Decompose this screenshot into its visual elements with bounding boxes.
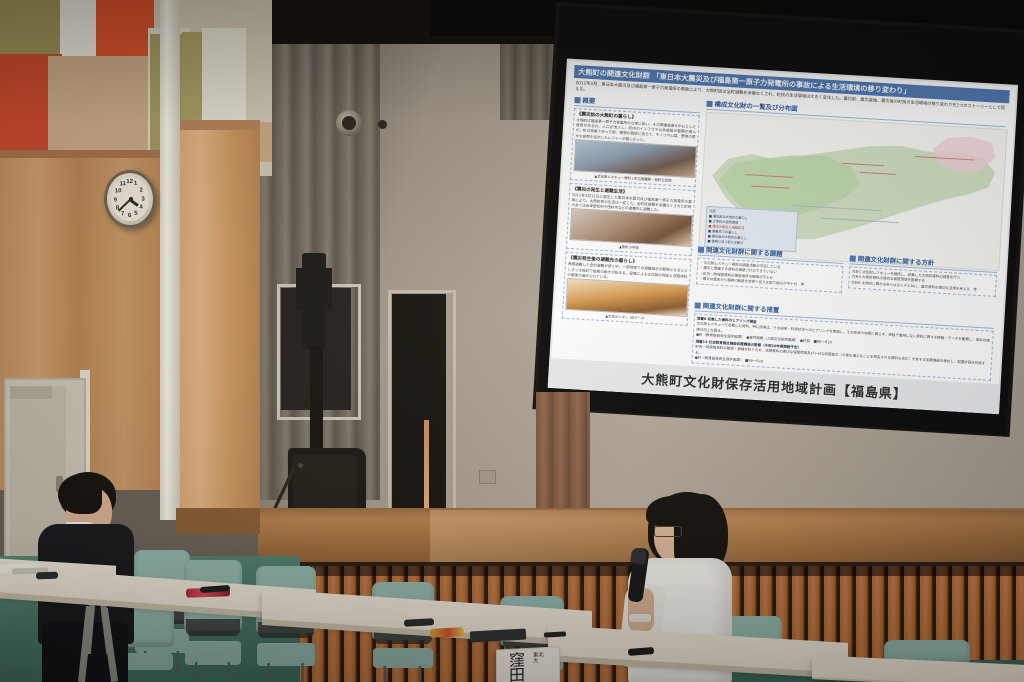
stage-doorway-opening[interactable] (392, 294, 446, 526)
measures-header-label: 関連文化財群に関する措置 (702, 301, 779, 314)
side-door-upper-panel (10, 386, 52, 399)
clock-numeral: 3 (141, 196, 145, 202)
section-marker-icon (695, 302, 701, 308)
name-plate-name: 窪田 (509, 652, 529, 682)
clock-numeral: 4 (139, 205, 143, 211)
clock-numeral: 10 (115, 189, 122, 195)
chair-seat (185, 641, 241, 665)
section-marker-icon (850, 255, 856, 261)
glasses-icon (654, 526, 682, 537)
slide-section-issues: 関連文化財群に関する課題 ・文化財レスキュー資料の調査活動が不足している ・震災… (696, 244, 844, 295)
clock-minute-hand (118, 199, 131, 211)
slide-section-map: 構成文化財の一覧及び分布図 凡例 ■ 震災前の大熊町の暮らし (698, 99, 1007, 271)
projected-slide: 大熊町の関連文化財群 「東日本大震災及び福島第一原子力発電所の事故による生活環境… (551, 61, 1016, 387)
chair-seat (373, 648, 433, 668)
name-plate: 窪田 東北大 (496, 646, 560, 682)
name-plate-affiliation: 東北大 (533, 652, 545, 665)
clock-numeral: 5 (134, 211, 138, 217)
stage-floor-left-edge (176, 508, 260, 534)
wainscot-cap-rail (0, 150, 176, 158)
chair-legs (189, 662, 238, 682)
clock-numeral: 2 (140, 188, 144, 194)
overview-block-3: 《震災発生後の避難先の暮らし》 長期避難した全町避難が続く中、一部地域での避難指… (562, 252, 692, 326)
overview-header-label: 概要 (582, 95, 595, 105)
wristwatch (629, 614, 651, 622)
pa-speaker-column (302, 253, 326, 349)
section-marker-icon (706, 100, 712, 106)
white-pillar (160, 0, 180, 520)
projection-screen[interactable]: 大熊町の関連文化財群 「東日本大震災及び福島第一原子力発電所の事故による生活環境… (537, 6, 1024, 433)
coloured-folder[interactable] (430, 627, 464, 638)
remote-control[interactable] (36, 572, 58, 580)
clock-numeral: 9 (114, 197, 118, 203)
clock-numeral: 12 (126, 179, 133, 185)
stage-curtain-right (536, 392, 590, 520)
panel-tan (48, 56, 160, 156)
hair-fringe (646, 496, 690, 526)
wooden-column (176, 120, 260, 520)
issues-box: ・文化財レスキュー資料の調査活動が不足している ・震災に関連する資料の価値づけが… (696, 257, 843, 292)
section-marker-icon (698, 246, 704, 252)
clock-face: 12 1 2 3 4 5 6 7 8 9 10 11 (110, 176, 150, 221)
wall-outlet (479, 470, 496, 484)
chair[interactable] (184, 560, 242, 682)
clock-numeral: 11 (120, 182, 127, 188)
overview-block-2: 《震災の発生と避難生活》 2011年3月11日に発生した東日本大震災及び福島第一… (566, 183, 696, 257)
pa-speaker-pole (310, 345, 323, 451)
microphone-head (630, 547, 647, 565)
chair-legs (377, 666, 429, 682)
hair-front (58, 474, 102, 514)
presentation-hall-photo: 大熊町の関連文化財群 「東日本大震災及び福島第一原子力発電所の事故による生活環境… (0, 0, 1024, 682)
chair-back-shadow (186, 619, 239, 636)
ceiling-sensor-icon (378, 120, 387, 129)
overview-block-1: 《震災前の大熊町の暮らし》 大熊町は福島第一原子力発電所の立地に伴い、その関連産… (570, 108, 700, 187)
ceiling-speaker-cone (342, 116, 356, 130)
slide-section-policy: 関連文化財群に関する方針 方針1 文化財レスキューを継続し、収集した大熊町資料の… (848, 253, 998, 299)
clock-numeral: 7 (121, 212, 125, 218)
subwoofer-power-led (298, 463, 303, 468)
clock-numeral: 6 (128, 213, 132, 219)
section-marker-icon (574, 97, 580, 103)
chair-seat (257, 643, 315, 666)
slide-section-overview: 概要 《震災前の大熊町の暮らし》 大熊町は福島第一原子力発電所の立地に伴い、その… (562, 95, 701, 329)
wooden-column-cap (176, 120, 260, 130)
chair-legs (261, 663, 311, 682)
clock-numeral: 1 (134, 181, 138, 187)
